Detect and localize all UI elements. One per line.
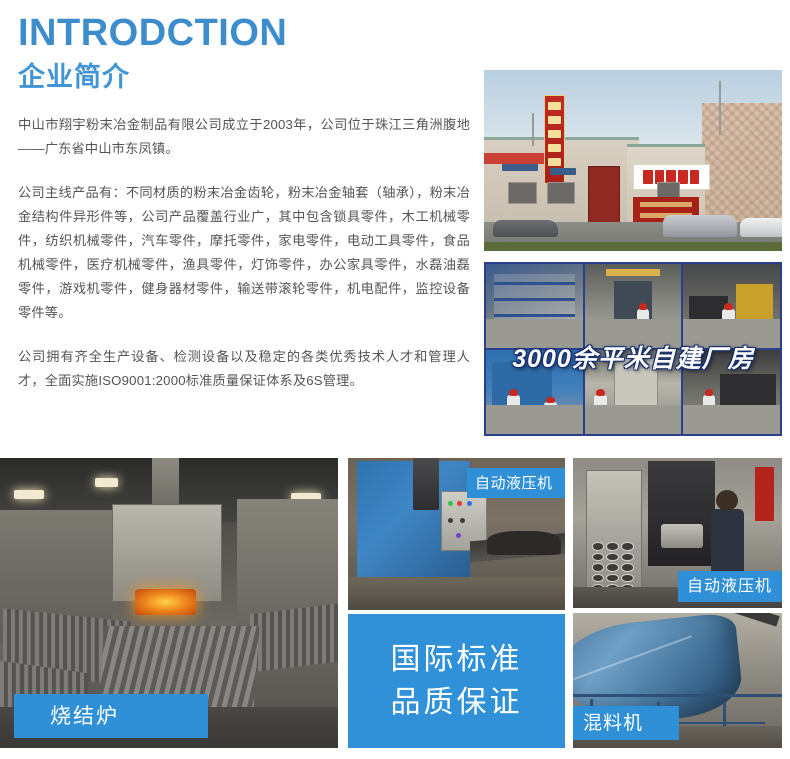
collage-cell-warehouse	[486, 264, 583, 348]
button-dot	[592, 563, 605, 572]
collage-overlay-text: 3000余平米自建厂房	[486, 339, 780, 375]
grass-strip	[484, 242, 782, 251]
press-ram-column	[413, 458, 439, 510]
intro-paragraph-3: 公司拥有齐全生产设备、检测设备以及稳定的各类优秀技术人才和管理人才，全面实施IS…	[18, 345, 470, 393]
cell-floor	[585, 405, 682, 434]
press-die	[661, 524, 703, 548]
quality-line-2: 品质保证	[391, 683, 523, 722]
welcome-sign-char	[690, 170, 700, 184]
ceiling-light	[95, 478, 119, 487]
sign-char-block	[548, 144, 561, 152]
parked-white-car	[740, 218, 782, 236]
furnace-hood	[112, 504, 222, 602]
page-title: INTRODCTION	[18, 14, 470, 54]
workshop-floor	[348, 577, 565, 610]
window-awning	[502, 164, 538, 171]
sign-char-block	[548, 130, 561, 138]
press-frame	[648, 461, 715, 566]
window	[508, 182, 537, 204]
hydraulic-press-photo: 自动液压机	[348, 458, 565, 610]
button-dot	[592, 542, 605, 551]
button-dot	[621, 574, 634, 583]
welcome-sign-char	[643, 170, 653, 184]
hydraulic-press-caption: 自动液压机	[467, 468, 565, 498]
red-pennant	[755, 467, 774, 521]
sign-char-block	[548, 158, 561, 166]
factory-scene	[484, 70, 782, 251]
furnace-caption: 烧结炉	[14, 694, 208, 738]
red-wall-sign-line	[640, 202, 692, 207]
page-subtitle: 企业简介	[18, 62, 470, 93]
collage-cell-machining	[683, 264, 780, 348]
cell-floor	[486, 405, 583, 434]
yellow-machine	[736, 284, 773, 322]
workshop-banner	[606, 269, 660, 276]
quality-statement-panel: 国际标准 品质保证	[348, 614, 565, 748]
factory-exterior-photo	[484, 70, 782, 251]
introduction-text-column: INTRODCTION 企业简介 中山市翔宇粉末冶金制品有限公司成立于2003年…	[18, 14, 470, 393]
ceiling-light	[14, 490, 44, 499]
quality-line-1: 国际标准	[391, 640, 523, 679]
button-dot	[592, 553, 605, 562]
workshop-collage-photo: 3000余平米自建厂房	[484, 262, 782, 436]
intro-paragraph-1: 中山市翔宇粉末冶金制品有限公司成立于2003年，公司位于珠江三角洲腹地——广东省…	[18, 113, 470, 161]
utility-pole	[719, 81, 721, 135]
furnace-flame	[135, 589, 196, 615]
button-array	[592, 542, 634, 593]
tiled-building-right	[702, 103, 782, 224]
cell-floor	[683, 405, 780, 434]
button-dot	[621, 563, 634, 572]
sign-char-block	[548, 102, 561, 110]
button-dot	[606, 574, 619, 583]
sintering-furnace-photo: 烧结炉	[0, 458, 338, 748]
button-dot	[606, 563, 619, 572]
indicator-light-purple	[456, 533, 461, 538]
button-dot	[606, 553, 619, 562]
antenna-pole	[532, 113, 534, 146]
sign-char-block	[548, 116, 561, 124]
indicator-light-green	[448, 501, 453, 506]
tray-stack-right	[250, 603, 338, 672]
mixer-caption: 混料机	[573, 706, 679, 740]
window	[547, 182, 576, 204]
button-dot	[621, 542, 634, 551]
parked-suv	[663, 215, 738, 237]
collage-cell-press-line	[585, 264, 682, 348]
hydraulic-press-worker-photo: 自动液压机	[573, 458, 782, 608]
button-dot	[621, 553, 634, 562]
drum-seam	[573, 635, 692, 680]
exhaust-duct	[152, 458, 179, 510]
hydraulic-press-worker-caption: 自动液压机	[678, 571, 782, 602]
intro-paragraph-2: 公司主线产品有：不同材质的粉末冶金齿轮，粉末冶金轴套（轴承），粉末冶金结构件异形…	[18, 181, 470, 325]
window-awning	[550, 168, 577, 175]
parked-car	[493, 220, 559, 236]
control-knob	[448, 518, 453, 523]
mixer-photo: 混料机	[573, 613, 782, 748]
iso-certification-banner	[484, 153, 547, 164]
button-dot	[606, 542, 619, 551]
powder-pile	[487, 531, 561, 555]
indicator-light-red	[457, 501, 462, 506]
button-dot	[592, 574, 605, 583]
indicator-light-blue	[467, 501, 472, 506]
factory-gate	[588, 166, 620, 226]
control-knob	[460, 518, 465, 523]
